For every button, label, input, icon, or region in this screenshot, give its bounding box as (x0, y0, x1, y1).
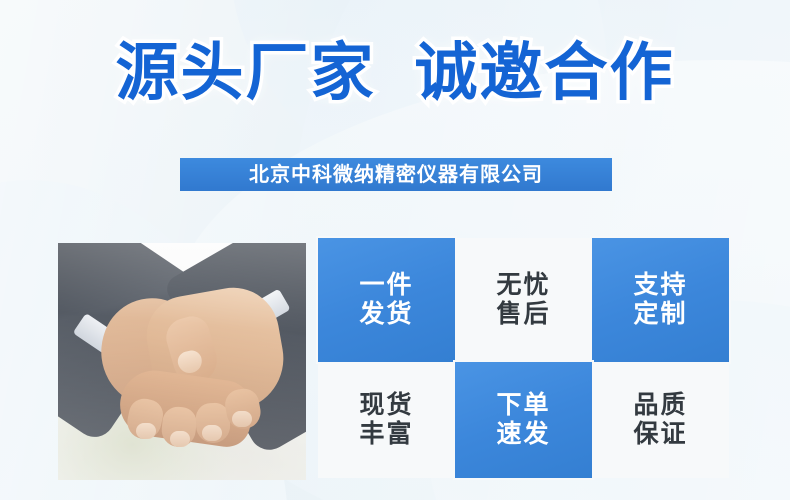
company-name-text: 北京中科微纳精密仪器有限公司 (249, 165, 543, 185)
feature-line-1: 现货 (359, 391, 413, 421)
feature-line-2: 售后 (496, 300, 550, 330)
feature-line-1: 品质 (633, 391, 687, 421)
feature-line-1: 一件 (359, 271, 413, 301)
company-name-banner: 北京中科微纳精密仪器有限公司 (180, 158, 612, 191)
feature-line-2: 速发 (496, 420, 550, 450)
promo-poster: 源头厂家 诚邀合作 北京中科微纳精密仪器有限公司 (0, 0, 790, 500)
feature-line-1: 无忧 (496, 271, 550, 301)
feature-line-2: 丰富 (359, 420, 413, 450)
feature-cell-zhichi-dingzhi: 支持 定制 (592, 238, 729, 362)
handshake-photo (58, 243, 306, 480)
page-title: 源头厂家 诚邀合作 (0, 42, 790, 105)
feature-cell-pinzhi-baozheng: 品质 保证 (592, 362, 729, 478)
photo-sheen (58, 243, 306, 480)
feature-line-2: 保证 (633, 420, 687, 450)
feature-grid: 一件 发货 无忧 售后 支持 定制 现货 丰富 下单 速发 品质 保证 (318, 238, 729, 478)
feature-cell-wuyou-shouhou: 无忧 售后 (455, 238, 592, 362)
handshake-photo-content (58, 243, 306, 480)
feature-line-2: 定制 (633, 300, 687, 330)
feature-cell-xiadan-sufa: 下单 速发 (455, 362, 592, 478)
feature-cell-yijian-fahuo: 一件 发货 (318, 238, 455, 362)
feature-cell-xianhuo-fengfu: 现货 丰富 (318, 362, 455, 478)
feature-line-1: 支持 (633, 271, 687, 301)
feature-line-1: 下单 (496, 391, 550, 421)
feature-line-2: 发货 (359, 300, 413, 330)
